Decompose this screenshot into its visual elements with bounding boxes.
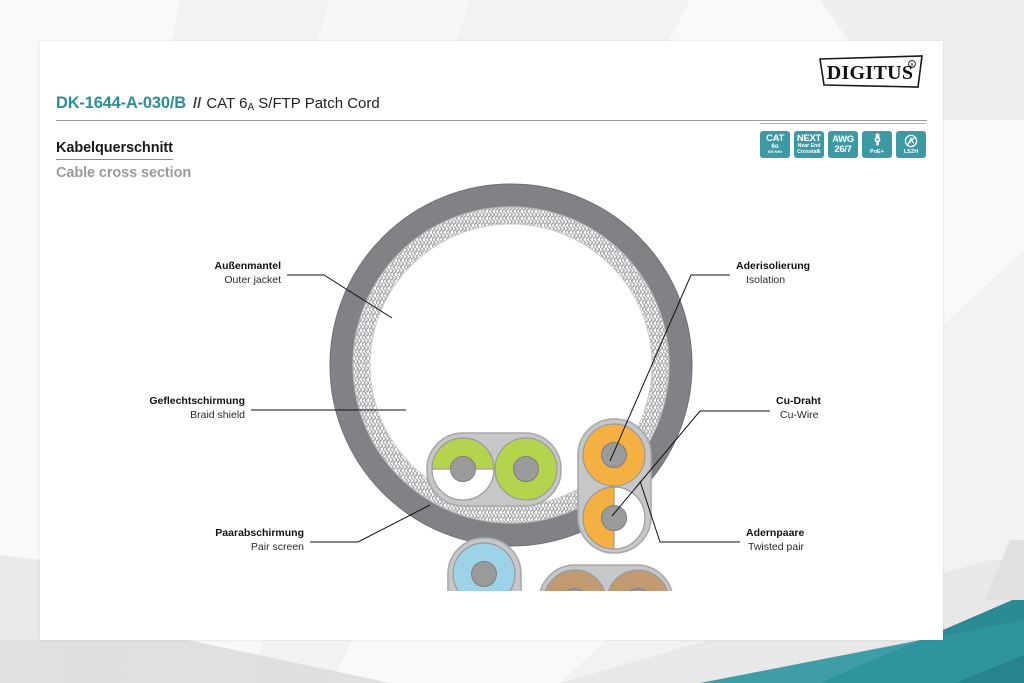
blue-conductor-solid-core <box>472 562 497 587</box>
feature-badges: CAT 6ɑ 500 MHz NEXT Near End Crosstalk A… <box>760 123 926 158</box>
next-badge: NEXT Near End Crosstalk <box>794 131 824 158</box>
callout-twisted-pair-en: Twisted pair <box>748 541 805 553</box>
logo-wordmark: DIGITUS <box>827 62 914 84</box>
cat-6a-badge: CAT 6ɑ 500 MHz <box>760 131 790 158</box>
product-desc-pre: CAT 6 <box>206 95 247 112</box>
section-title-de: Kabelquerschnitt <box>56 140 173 160</box>
awg-badge: AWG 26/7 <box>828 131 858 158</box>
awg-badge-line2: 26/7 <box>834 145 851 155</box>
callout-outer-jacket-en: Outer jacket <box>224 274 281 286</box>
callout-twisted-pair-de: Adernpaare <box>746 527 805 539</box>
product-desc-subscript: A <box>247 102 254 113</box>
lszh-badge-label: LSZH <box>904 150 918 156</box>
poe-badge-label: PoE+ <box>870 150 884 156</box>
product-description: CAT 6A S/FTP Patch Cord <box>206 95 379 112</box>
next-badge-line3: Crosstalk <box>797 150 821 155</box>
callout-braid-shield-de: Geflechtschirmung <box>149 395 245 407</box>
callout-cu-wire-de: Cu-Draht <box>776 395 821 407</box>
green-conductor-solid-core <box>514 457 539 482</box>
product-desc-post: S/FTP Patch Cord <box>254 95 380 112</box>
callout-pair-screen-en: Pair screen <box>251 541 304 553</box>
page-root: DIGITUS R DK-1644-A-030/B//CAT 6A S/FTP … <box>0 0 1024 683</box>
no-halogen-icon <box>904 134 918 148</box>
orange-conductor-solid-core <box>602 443 627 468</box>
orange-conductor-striped-core <box>602 506 627 531</box>
title-separator: // <box>193 95 201 112</box>
green-pair <box>427 433 561 506</box>
product-title-row: DK-1644-A-030/B//CAT 6A S/FTP Patch Cord <box>56 94 927 121</box>
plug-icon <box>871 133 884 148</box>
cat-badge-line1: CAT <box>766 134 784 144</box>
orange-pair <box>578 419 651 553</box>
cable-cross-section-diagram: Außenmantel Outer jacket Geflechtschirmu… <box>40 171 943 591</box>
callout-isolation-en: Isolation <box>746 274 785 286</box>
callout-cu-wire-en: Cu-Wire <box>780 409 819 421</box>
green-conductor-striped-core <box>451 457 476 482</box>
product-code: DK-1644-A-030/B <box>56 94 186 112</box>
callout-braid-shield-en: Braid shield <box>190 409 245 421</box>
callout-isolation-de: Aderisolierung <box>736 260 810 272</box>
next-badge-line1: NEXT <box>797 134 821 144</box>
callout-outer-jacket-de: Außenmantel <box>214 260 281 272</box>
brown-pair <box>539 565 673 591</box>
content-sheet: DIGITUS R DK-1644-A-030/B//CAT 6A S/FTP … <box>40 41 943 640</box>
lszh-badge: LSZH <box>896 131 926 158</box>
digitus-logo: DIGITUS R <box>817 55 925 90</box>
poe-badge: PoE+ <box>862 131 892 158</box>
callout-pair-screen-de: Paarabschirmung <box>215 527 304 539</box>
leader-twisted-pair-right <box>640 481 740 542</box>
cat-badge-line3: 500 MHz <box>768 151 782 155</box>
